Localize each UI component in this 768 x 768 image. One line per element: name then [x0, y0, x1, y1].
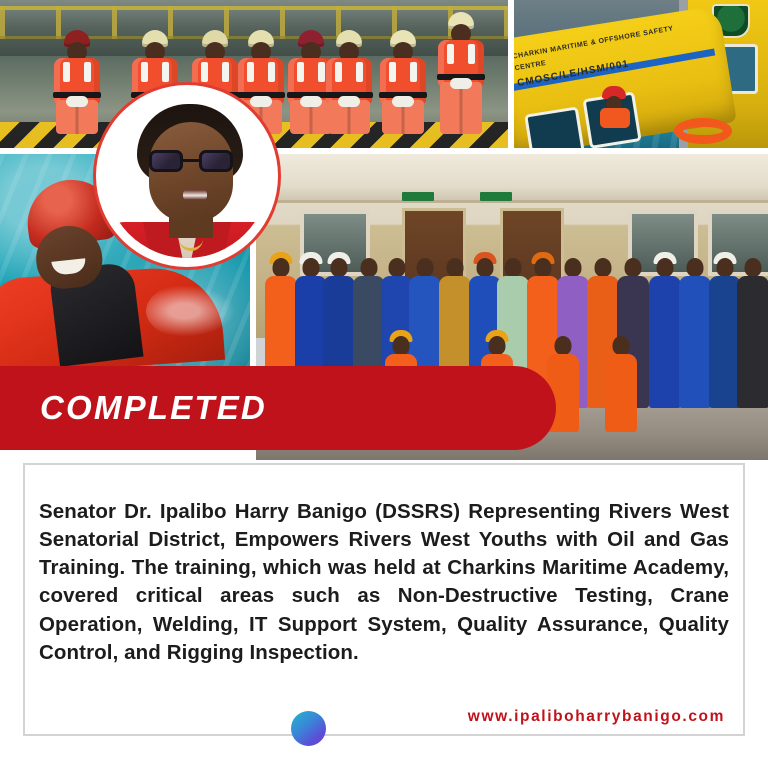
group-member — [648, 258, 682, 408]
trainee-figure — [48, 30, 106, 134]
capsized-survival-craft-photo: CHARKIN MARITIME & OFFSHORE SAFETY CENTR… — [514, 0, 768, 148]
status-badge-label: COMPLETED — [40, 389, 267, 427]
group-member-seated — [604, 336, 638, 432]
gradient-accent-dot — [291, 711, 326, 746]
website-url[interactable]: www.ipaliboharrybanigo.com — [468, 708, 725, 726]
craft-window — [524, 106, 585, 148]
exit-only-sign — [402, 192, 434, 201]
trainee-figure — [320, 30, 378, 134]
senator-portrait — [93, 82, 281, 270]
trainee-figure — [432, 12, 490, 138]
group-member — [736, 258, 768, 408]
life-buoy — [674, 118, 732, 144]
exit-only-sign — [480, 192, 512, 201]
status-badge: COMPLETED — [0, 366, 556, 450]
caption-text: Senator Dr. Ipalibo Harry Banigo (DSSRS)… — [39, 498, 729, 668]
water-splash — [146, 282, 242, 340]
group-member — [678, 258, 712, 408]
portrait-mouth — [183, 190, 207, 200]
poster-root: CHARKIN MARITIME & OFFSHORE SAFETY CENTR… — [0, 0, 768, 768]
caption-card: Senator Dr. Ipalibo Harry Banigo (DSSRS)… — [23, 463, 745, 736]
portrait-face — [149, 122, 233, 222]
trainee-in-hatch — [600, 86, 630, 128]
building-eave — [256, 154, 768, 203]
eyeglasses-icon — [149, 150, 233, 172]
trainee-figure — [374, 30, 432, 134]
portrait-image — [105, 94, 269, 258]
